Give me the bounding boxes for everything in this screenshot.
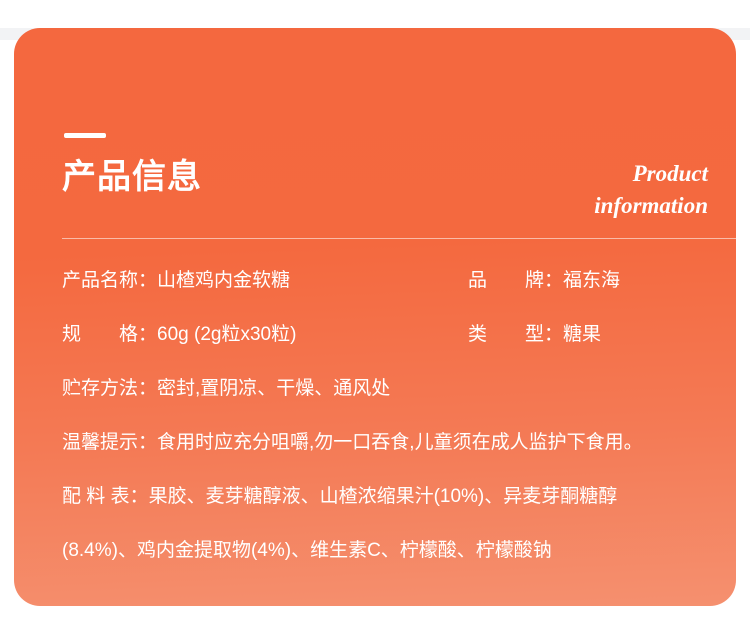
tips-label: 温馨提示： (62, 432, 157, 453)
storage-value: 密封,置阴凉、干燥、通风处 (157, 378, 390, 399)
top-background-band-inner (0, 0, 750, 28)
product-name-field: 产品名称：山楂鸡内金软糖 (62, 254, 290, 308)
tips-field: 温馨提示：食用时应充分咀嚼,勿一口吞食,儿童须在成人监护下食用。 (62, 416, 736, 470)
title-divider (62, 238, 736, 239)
brand-label: 品 牌： (468, 254, 563, 308)
spec-label: 规 格： (62, 308, 157, 362)
page-title-english-line1: Product (594, 158, 708, 190)
page-title-english: Product information (594, 158, 708, 222)
table-row: 规 格：60g (2g粒x30粒) 类 型：糖果 (62, 308, 736, 362)
product-info-card-inner: 产品信息 Product information 产品名称：山楂鸡内金软糖 品 … (14, 28, 736, 606)
product-info-page: 产品信息 Product information 产品名称：山楂鸡内金软糖 品 … (0, 0, 750, 623)
title-accent-bar (64, 133, 106, 138)
ingredients-continuation: (8.4%)、鸡内金提取物(4%)、维生素C、柠檬酸、柠檬酸钠 (62, 524, 736, 578)
brand-value: 福东海 (563, 254, 620, 308)
brand-field: 品 牌：福东海 (468, 254, 620, 308)
product-name-label: 产品名称： (62, 254, 157, 308)
storage-label: 贮存方法： (62, 378, 157, 399)
type-field: 类 型：糖果 (468, 308, 601, 362)
storage-field: 贮存方法：密封,置阴凉、干燥、通风处 (62, 362, 736, 416)
ingredients-value-line2: (8.4%)、鸡内金提取物(4%)、维生素C、柠檬酸、柠檬酸钠 (62, 540, 552, 561)
page-title-english-line2: information (594, 190, 708, 222)
tips-value: 食用时应充分咀嚼,勿一口吞食,儿童须在成人监护下食用。 (157, 432, 643, 453)
info-rows: 产品名称：山楂鸡内金软糖 品 牌：福东海 规 格：60g (2g粒x30粒) 类… (62, 254, 736, 578)
spec-field: 规 格：60g (2g粒x30粒) (62, 308, 296, 362)
ingredients-label: 配 料 表： (62, 486, 149, 507)
product-info-card: 产品信息 Product information 产品名称：山楂鸡内金软糖 品 … (14, 28, 736, 606)
ingredients-value-line1: 果胶、麦芽糖醇液、山楂浓缩果汁(10%)、异麦芽酮糖醇 (149, 486, 618, 507)
type-label: 类 型： (468, 308, 563, 362)
type-value: 糖果 (563, 308, 601, 362)
spec-value: 60g (2g粒x30粒) (157, 308, 296, 362)
page-title: 产品信息 (62, 153, 202, 201)
table-row: 产品名称：山楂鸡内金软糖 品 牌：福东海 (62, 254, 736, 308)
ingredients-field: 配 料 表：果胶、麦芽糖醇液、山楂浓缩果汁(10%)、异麦芽酮糖醇 (62, 470, 736, 524)
product-name-value: 山楂鸡内金软糖 (157, 254, 290, 308)
